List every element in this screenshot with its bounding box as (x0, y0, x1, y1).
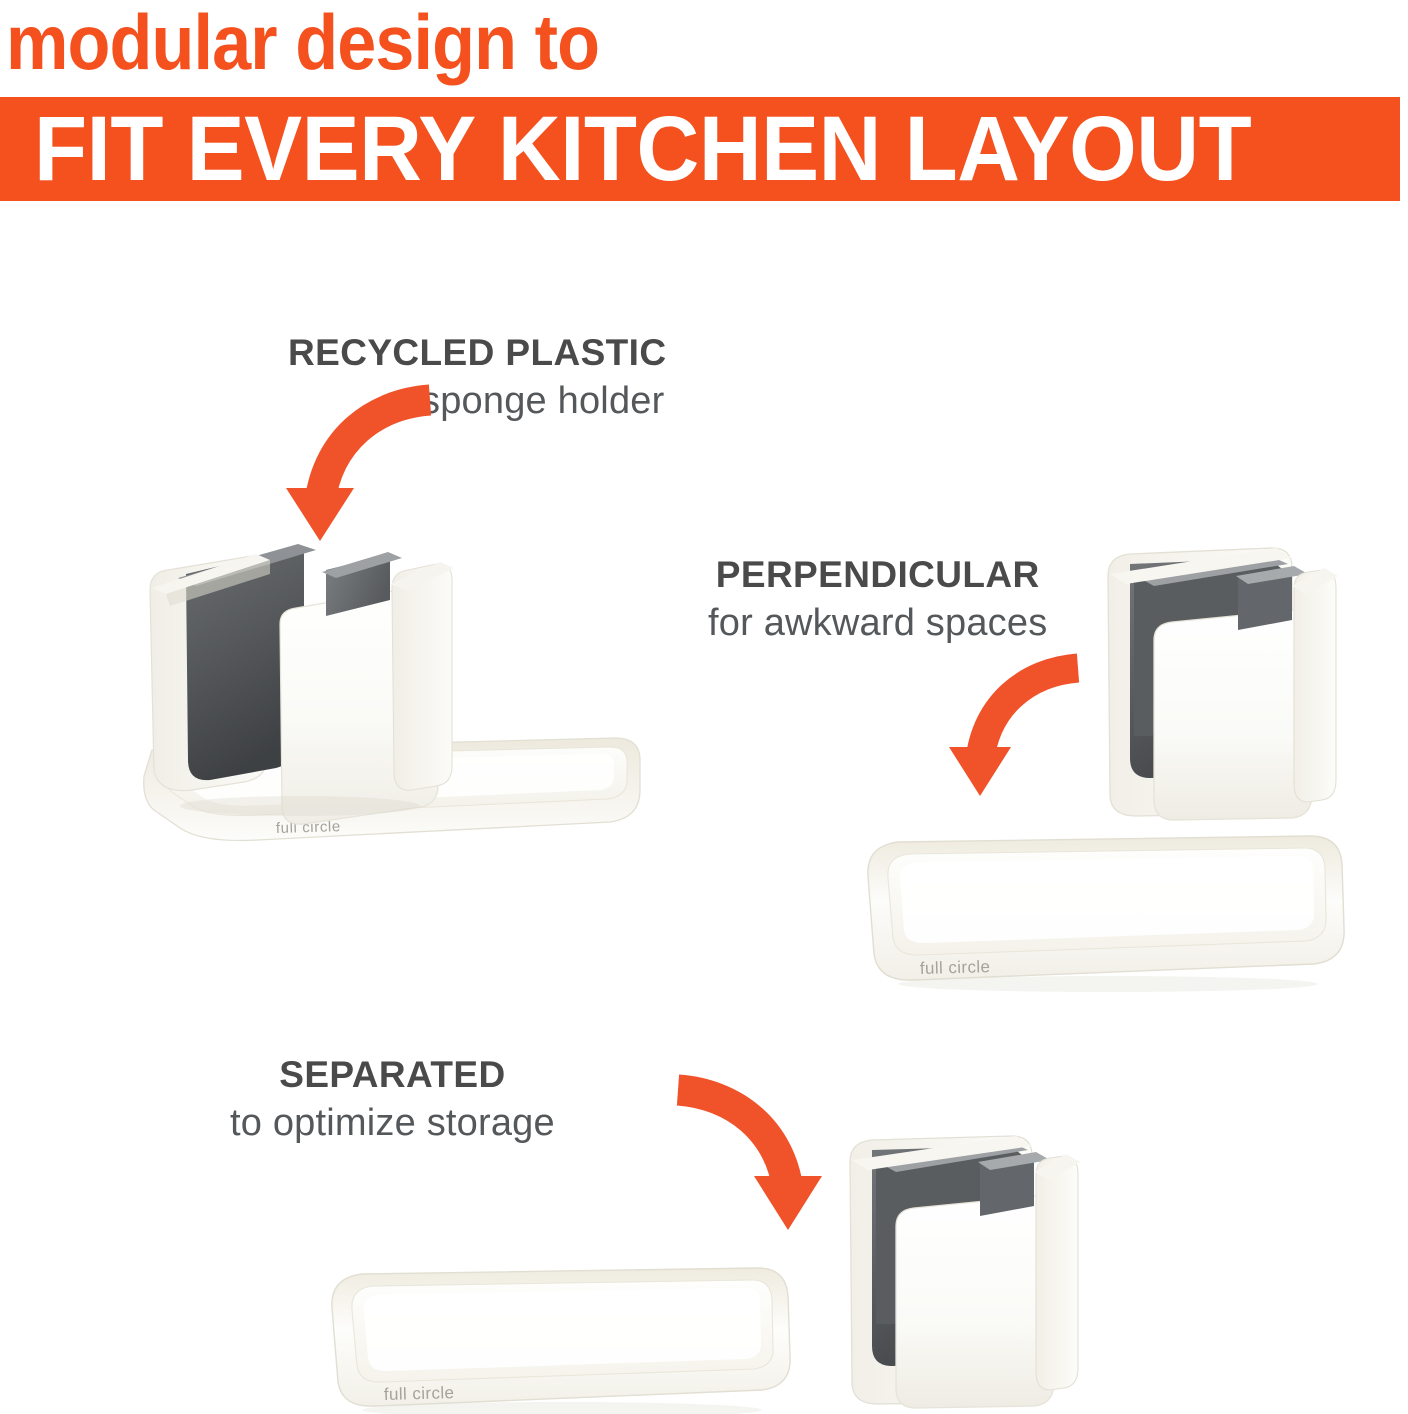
callout-title: RECYCLED PLASTIC (288, 330, 666, 376)
product-holder-perpendicular (1096, 536, 1356, 833)
callout-perpendicular: PERPENDICULAR for awkward spaces (708, 552, 1047, 648)
product-tray-perpendicular: full circle (858, 824, 1354, 1009)
curved-arrow-down-right-icon (656, 1068, 824, 1236)
curved-arrow-down-left-icon-2 (944, 648, 1104, 800)
product-tray-separated: full circle (326, 1262, 796, 1414)
product-group-assembled: full circle (140, 528, 650, 883)
callout-title: SEPARATED (230, 1052, 555, 1098)
callout-title: PERPENDICULAR (708, 552, 1047, 598)
curved-arrow-down-left-icon-1 (282, 378, 462, 546)
headline-banner: FIT EVERY KITCHEN LAYOUT (0, 97, 1400, 201)
infographic-canvas: modular design to FIT EVERY KITCHEN LAYO… (0, 0, 1408, 1414)
brand-label: full circle (384, 1383, 455, 1404)
product-holder-separated (836, 1128, 1100, 1414)
callout-subtitle: to optimize storage (230, 1098, 555, 1148)
brand-label: full circle (920, 957, 991, 978)
headline-banner-text: FIT EVERY KITCHEN LAYOUT (34, 97, 1251, 201)
callout-subtitle: for awkward spaces (708, 598, 1047, 648)
headline-primary: modular design to (6, 0, 599, 90)
callout-separated: SEPARATED to optimize storage (230, 1052, 555, 1148)
